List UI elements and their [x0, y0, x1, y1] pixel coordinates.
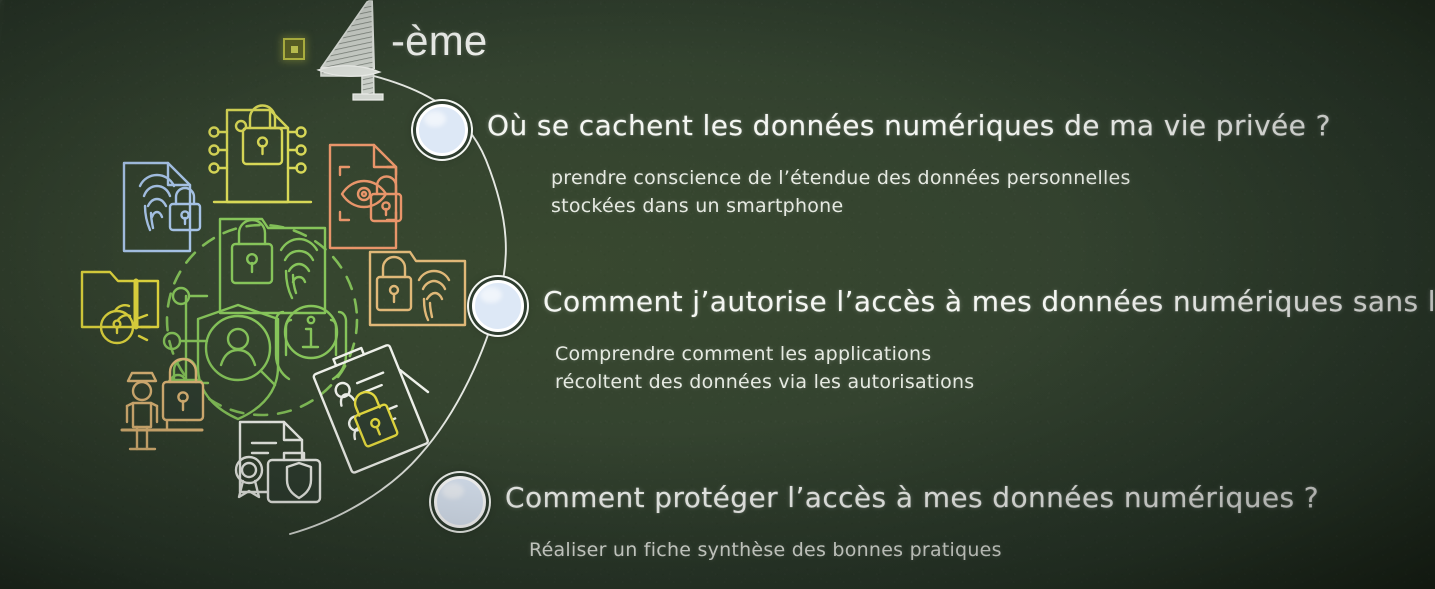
slide-root: -ème Où se cachent les données numérique…: [0, 0, 1435, 589]
chalkboard-vignette: [0, 0, 1435, 589]
